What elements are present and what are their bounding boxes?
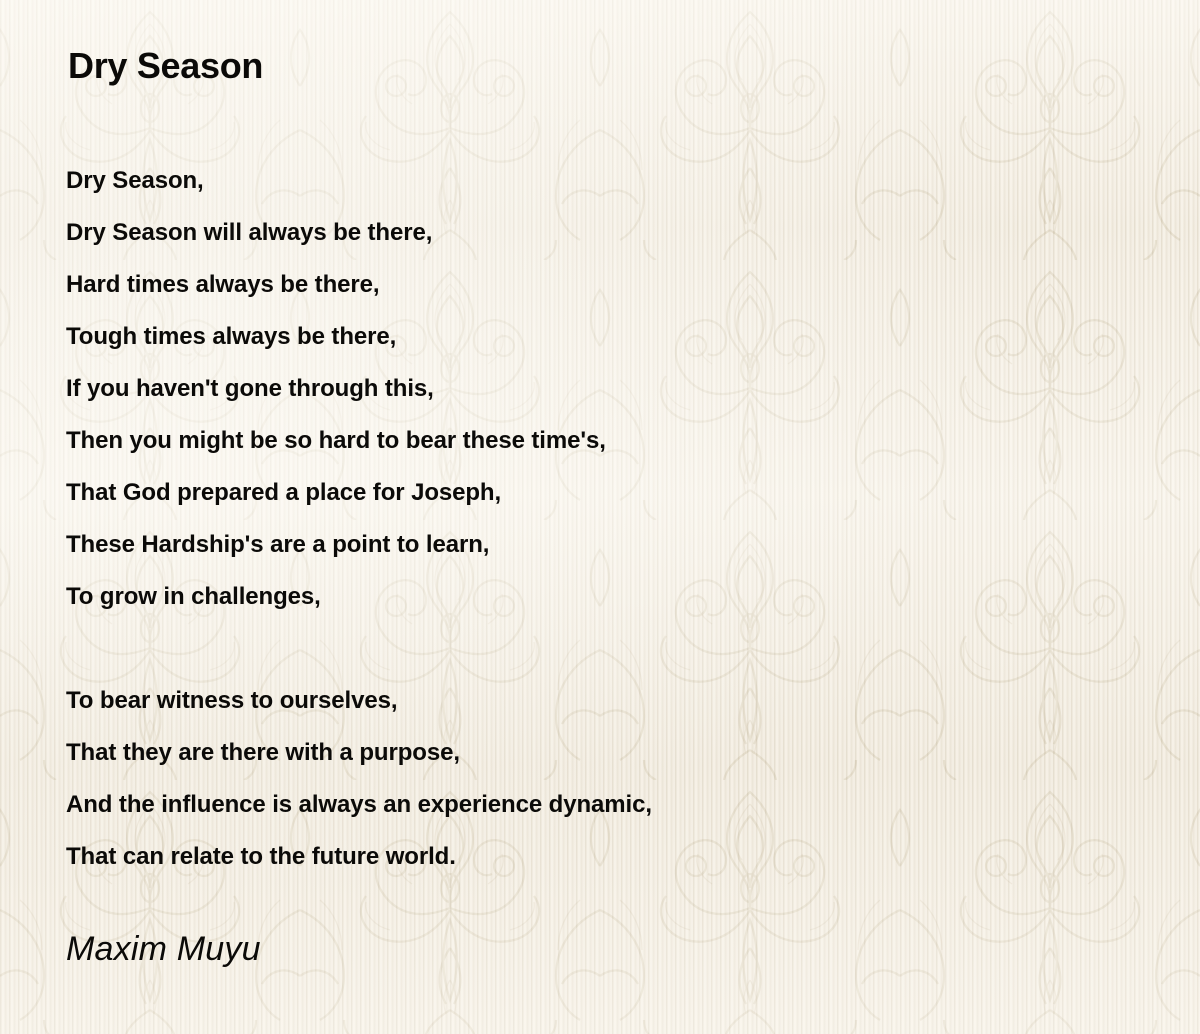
page-title: Dry Season — [68, 45, 263, 87]
poem-line: That they are there with a purpose, — [66, 727, 1126, 779]
poem-line: That can relate to the future world. — [66, 831, 1126, 883]
poem-line: These Hardship's are a point to learn, — [66, 519, 1126, 571]
poem-line: Dry Season will always be there, — [66, 207, 1126, 259]
poem-line: Hard times always be there, — [66, 259, 1126, 311]
poem-line: Tough times always be there, — [66, 311, 1126, 363]
poem-line: And the influence is always an experienc… — [66, 779, 1126, 831]
poem-line: If you haven't gone through this, — [66, 363, 1126, 415]
poem-body: Dry Season,Dry Season will always be the… — [66, 155, 1126, 883]
poem-line-blank — [66, 623, 1126, 675]
poem-line: Then you might be so hard to bear these … — [66, 415, 1126, 467]
poem-line: Dry Season, — [66, 155, 1126, 207]
poem-author: Maxim Muyu — [66, 930, 261, 969]
poem-line: To grow in challenges, — [66, 571, 1126, 623]
poem-page: Dry Season Dry Season,Dry Season will al… — [0, 0, 1200, 1034]
poem-line: That God prepared a place for Joseph, — [66, 467, 1126, 519]
poem-line: To bear witness to ourselves, — [66, 675, 1126, 727]
